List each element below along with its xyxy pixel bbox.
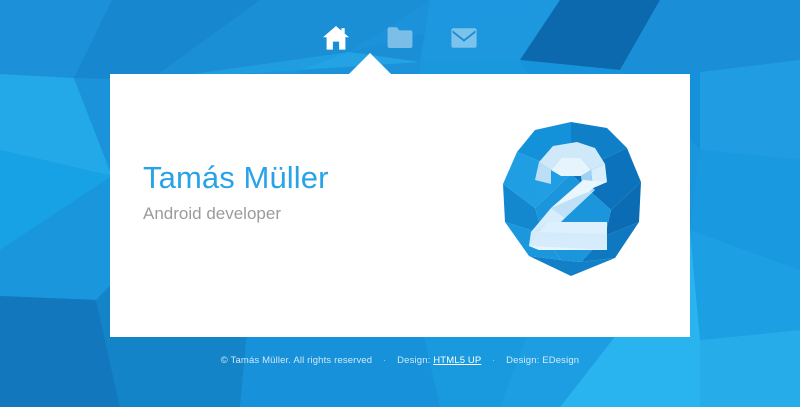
footer-credit-2-prefix: Design:	[506, 355, 539, 366]
footer-credit-2-name: EDesign	[542, 355, 579, 366]
hero-card: Tamás Müller Android developer	[110, 74, 690, 337]
page-subtitle: Android developer	[143, 204, 329, 224]
page-title: Tamás Müller	[143, 162, 329, 195]
footer-credit-1-prefix: Design:	[397, 355, 430, 366]
nav-item-home[interactable]	[313, 15, 359, 61]
home-icon	[322, 25, 350, 51]
nav-item-folder[interactable]	[377, 15, 423, 61]
footer-copyright: © Tamás Müller. All rights reserved	[221, 355, 372, 366]
footer-separator-1: ·	[375, 354, 394, 368]
main-nav[interactable]	[0, 14, 800, 62]
footer-separator-2: ·	[484, 354, 503, 368]
folder-icon	[386, 26, 414, 50]
page-root: Tamás Müller Android developer	[0, 0, 800, 407]
footer: © Tamás Müller. All rights reserved · De…	[0, 354, 800, 368]
low-poly-two-logo	[495, 118, 647, 280]
intro-block: Tamás Müller Android developer	[143, 162, 329, 224]
footer-link-html5up[interactable]: HTML5 UP	[433, 355, 481, 366]
nav-item-envelope[interactable]	[441, 15, 487, 61]
envelope-icon	[450, 27, 478, 49]
